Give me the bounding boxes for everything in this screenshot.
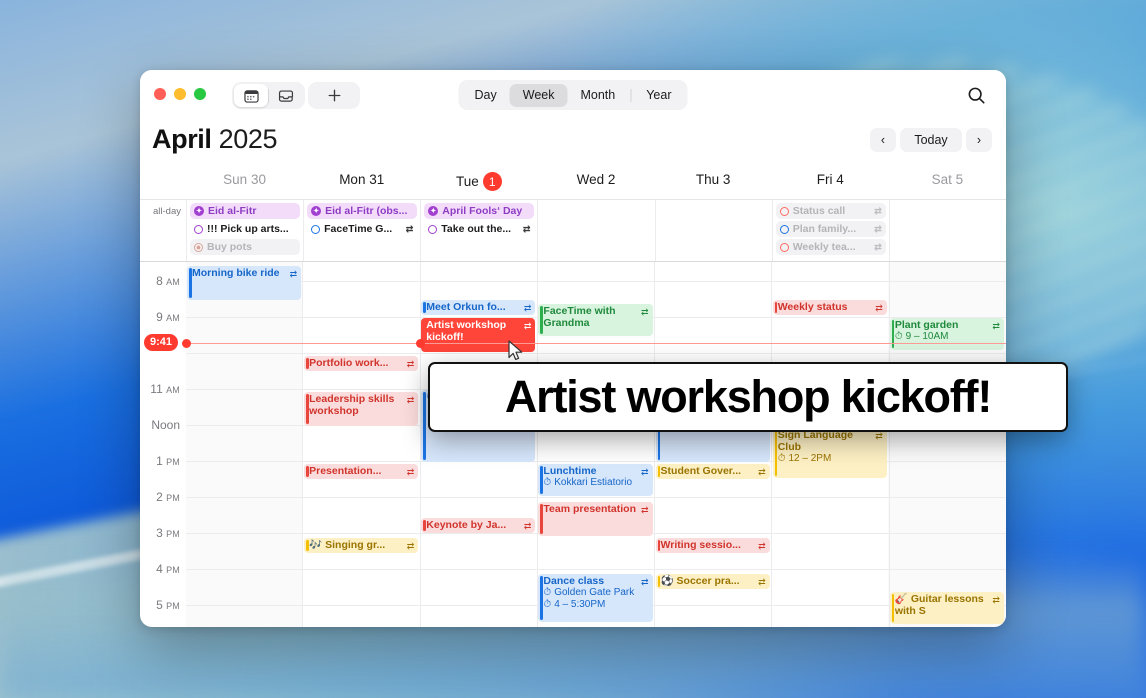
event-color-bar xyxy=(306,540,309,551)
calendar-event[interactable]: ⇄🎶 Singing gr... xyxy=(304,538,418,553)
all-day-event[interactable]: !!! Pick up arts... xyxy=(190,221,300,237)
hour-label: 2 PM xyxy=(140,490,180,504)
clock-icon: ⏱ xyxy=(543,599,551,611)
event-title: FaceTime with Grandma xyxy=(543,305,648,329)
all-day-column-5[interactable]: Status call⇄Plan family...⇄Weekly tea...… xyxy=(772,200,889,261)
repeat-icon: ⇄ xyxy=(290,268,298,280)
all-day-event-title: April Fools‘ Day xyxy=(442,205,530,217)
all-day-column-2[interactable]: ✦April Fools‘ DayTake out the...⇄ xyxy=(420,200,537,261)
all-day-column-6[interactable] xyxy=(889,200,1006,261)
window-titlebar: Day Week Month Year xyxy=(140,70,1006,122)
day-header-label: Wed 2 xyxy=(577,172,616,187)
all-day-event-title: Buy pots xyxy=(207,241,296,253)
source-toggle-group xyxy=(232,82,305,109)
all-day-event[interactable]: ✦Eid al-Fitr xyxy=(190,203,300,219)
event-color-bar xyxy=(658,576,661,587)
reminder-completed-icon[interactable] xyxy=(194,243,203,252)
month-bar: April 2025 ‹ Today › xyxy=(140,122,1006,172)
hour-number: 11 xyxy=(150,382,162,396)
all-day-event-title: Take out the... xyxy=(441,223,519,235)
repeat-icon: ⇄ xyxy=(992,594,1000,606)
repeat-icon: ⇄ xyxy=(641,466,649,478)
page-title: April 2025 xyxy=(152,124,277,155)
event-color-bar xyxy=(658,540,661,551)
calendar-event[interactable]: ⇄⚽ Soccer pra... xyxy=(656,574,770,589)
birthday-star-icon: ✦ xyxy=(311,206,321,216)
location-icon: ⏱ xyxy=(543,477,551,489)
prev-week-button[interactable]: ‹ xyxy=(870,128,896,152)
all-day-event[interactable]: Plan family...⇄ xyxy=(776,221,886,237)
hour-meridiem: PM xyxy=(166,493,180,503)
day-header-label: Sat 5 xyxy=(932,172,964,187)
all-day-column-4[interactable] xyxy=(655,200,772,261)
hour-label: 11 AM xyxy=(140,382,180,396)
day-header-label: Thu 3 xyxy=(696,172,731,187)
reminder-circle-icon[interactable] xyxy=(194,225,203,234)
all-day-event-title: Weekly tea... xyxy=(793,241,871,253)
time-grid: 8 AM9 AM11 AMNoon1 PM2 PM3 PM4 PM5 PM ⇄M… xyxy=(140,262,1006,627)
event-title: Writing sessio... xyxy=(661,539,766,551)
event-title: 🎶 Singing gr... xyxy=(309,539,414,551)
calendar-event[interactable]: ⇄🎸 Guitar lessons with S xyxy=(890,592,1004,624)
event-color-bar xyxy=(306,358,309,369)
repeat-icon: ⇄ xyxy=(874,242,882,253)
current-time-line xyxy=(186,343,1006,344)
repeat-icon: ⇄ xyxy=(407,358,415,370)
hour-number: 8 xyxy=(156,274,163,288)
event-subtitle: ⏱Kokkari Estiatorio xyxy=(543,477,648,489)
event-title: Sign Language Club xyxy=(778,429,883,453)
hour-meridiem: AM xyxy=(166,277,180,287)
month-name: April xyxy=(152,124,212,154)
event-layer: ⇄Morning bike ride⇄Portfolio work...⇄Lea… xyxy=(186,262,1006,627)
event-title: Meet Orkun fo... xyxy=(426,301,531,313)
all-day-event-title: Eid al-Fitr xyxy=(208,205,296,217)
search-icon[interactable] xyxy=(963,82,990,109)
location-icon: ⏱ xyxy=(543,587,551,599)
event-emoji-icon: 🎸 xyxy=(895,593,908,605)
repeat-icon: ⇄ xyxy=(523,224,531,235)
event-title: Leadership skills workshop xyxy=(309,393,414,417)
event-title: Team presentation xyxy=(543,503,648,515)
event-color-bar xyxy=(423,302,426,313)
event-title: Plant garden xyxy=(895,319,1000,331)
current-time-dot-today xyxy=(416,339,425,348)
event-color-bar xyxy=(423,520,426,531)
repeat-icon: ⇄ xyxy=(758,576,766,588)
hour-number: 1 xyxy=(156,454,163,468)
repeat-icon: ⇄ xyxy=(758,466,766,478)
view-divider xyxy=(630,89,631,102)
all-day-column-0[interactable]: ✦Eid al-Fitr!!! Pick up arts...Buy pots xyxy=(186,200,303,261)
day-header-label: Sun 30 xyxy=(223,172,266,187)
hour-meridiem: PM xyxy=(166,601,180,611)
all-day-event[interactable]: Weekly tea...⇄ xyxy=(776,239,886,255)
reminder-circle-icon[interactable] xyxy=(428,225,437,234)
day-header-label: Fri 4 xyxy=(817,172,844,187)
event-title: Keynote by Ja... xyxy=(426,519,531,531)
hour-label: 3 PM xyxy=(140,526,180,540)
calendar-event[interactable]: ⇄Presentation... xyxy=(304,464,418,479)
all-day-event[interactable]: ✦Eid al-Fitr (obs... xyxy=(307,203,417,219)
calendar-event[interactable]: ⇄Lunchtime⏱Kokkari Estiatorio xyxy=(538,464,652,496)
close-button[interactable] xyxy=(154,88,166,100)
all-day-event[interactable]: Buy pots xyxy=(190,239,300,255)
day-header-sun[interactable]: Sun 30 xyxy=(186,172,303,199)
date-nav-group: ‹ Today › xyxy=(870,128,992,152)
event-color-bar xyxy=(540,504,543,534)
repeat-icon: ⇄ xyxy=(524,302,532,314)
event-color-bar xyxy=(306,394,309,424)
event-color-bar xyxy=(658,466,661,477)
event-color-bar xyxy=(540,466,543,494)
day-header-thu[interactable]: Thu 3 xyxy=(655,172,772,199)
calendar-event[interactable]: ⇄Student Gover... xyxy=(656,464,770,479)
birthday-star-icon: ✦ xyxy=(428,206,438,216)
event-title: Lunchtime xyxy=(543,465,648,477)
reminder-circle-icon[interactable] xyxy=(780,225,789,234)
repeat-icon: ⇄ xyxy=(407,466,415,478)
event-color-bar xyxy=(775,430,778,476)
day-header-row: Sun 30Mon 31Tue 1Wed 2Thu 3Fri 4Sat 5 xyxy=(140,172,1006,200)
day-header-wed[interactable]: Wed 2 xyxy=(537,172,654,199)
event-color-bar xyxy=(423,392,426,460)
zoom-button[interactable] xyxy=(194,88,206,100)
calendar-event[interactable]: ⇄Weekly status xyxy=(773,300,887,315)
event-color-bar xyxy=(892,320,895,348)
event-time: ⏱4 – 5:30PM xyxy=(543,599,648,611)
today-button[interactable]: Today xyxy=(900,128,962,152)
day-header-fri[interactable]: Fri 4 xyxy=(772,172,889,199)
clock-icon: ⏱ xyxy=(778,453,786,465)
view-year[interactable]: Year xyxy=(633,84,684,107)
hour-label: 5 PM xyxy=(140,598,180,612)
all-day-event-title: Status call xyxy=(793,205,871,217)
reminder-circle-icon[interactable] xyxy=(780,207,789,216)
view-month[interactable]: Month xyxy=(567,84,628,107)
magnified-event-tooltip: Artist workshop kickoff! xyxy=(428,362,1068,432)
calendar-event[interactable]: ⇄Dance class⏱Golden Gate Park⏱4 – 5:30PM xyxy=(538,574,652,622)
day-header-label: Mon 31 xyxy=(339,172,384,187)
event-title: Portfolio work... xyxy=(309,357,414,369)
calendar-event[interactable]: ⇄Sign Language Club⏱12 – 2PM xyxy=(773,428,887,478)
hour-label: Noon xyxy=(140,418,180,432)
all-day-event[interactable]: ✦April Fools‘ Day xyxy=(424,203,534,219)
event-title: 🎸 Guitar lessons with S xyxy=(895,593,1000,617)
hour-label: 1 PM xyxy=(140,454,180,468)
calendar-event[interactable]: ⇄Meet Orkun fo... xyxy=(421,300,535,315)
day-header-tue[interactable]: Tue 1 xyxy=(420,172,537,199)
all-day-label: all-day xyxy=(140,200,186,261)
repeat-icon: ⇄ xyxy=(641,576,649,588)
event-color-bar xyxy=(189,268,192,298)
birthday-star-icon: ✦ xyxy=(194,206,204,216)
calendar-event[interactable]: ⇄Writing sessio... xyxy=(656,538,770,553)
repeat-icon: ⇄ xyxy=(641,504,649,516)
calendar-event[interactable]: ⇄FaceTime with Grandma xyxy=(538,304,652,336)
repeat-icon: ⇄ xyxy=(992,320,1000,332)
hour-number: 4 xyxy=(156,562,163,576)
tooltip-text: Artist workshop kickoff! xyxy=(505,371,991,423)
day-header-label: Tue 1 xyxy=(456,172,502,191)
event-emoji-icon: ⚽ xyxy=(661,575,674,587)
repeat-icon: ⇄ xyxy=(407,394,415,406)
event-title: Presentation... xyxy=(309,465,414,477)
traffic-lights xyxy=(154,88,206,100)
next-week-button[interactable]: › xyxy=(966,128,992,152)
all-day-row: all-day ✦Eid al-Fitr!!! Pick up arts...B… xyxy=(140,200,1006,262)
event-color-bar xyxy=(892,594,895,622)
hour-meridiem: AM xyxy=(166,385,180,395)
event-color-bar xyxy=(306,466,309,477)
all-day-event-title: Plan family... xyxy=(793,223,871,235)
event-title: Dance class xyxy=(543,575,648,587)
hour-label: 4 PM xyxy=(140,562,180,576)
event-color-bar xyxy=(540,306,543,334)
event-color-bar xyxy=(540,576,543,620)
view-switcher: Day Week Month Year xyxy=(459,80,688,110)
view-day[interactable]: Day xyxy=(462,84,510,107)
all-day-event[interactable]: Take out the...⇄ xyxy=(424,221,534,237)
repeat-icon: ⇄ xyxy=(874,224,882,235)
hour-number: 2 xyxy=(156,490,163,504)
event-title: Morning bike ride xyxy=(192,267,297,279)
event-emoji-icon: 🎶 xyxy=(309,539,322,551)
all-day-event[interactable]: Status call⇄ xyxy=(776,203,886,219)
calendar-event[interactable]: ⇄Keynote by Ja... xyxy=(421,518,535,533)
calendar-event[interactable]: ⇄Morning bike ride xyxy=(187,266,301,300)
calendar-event[interactable]: ⇄Team presentation xyxy=(538,502,652,536)
event-title: Student Gover... xyxy=(661,465,766,477)
header-gutter xyxy=(140,172,186,199)
hour-meridiem: PM xyxy=(166,565,180,575)
all-day-event-title: !!! Pick up arts... xyxy=(207,223,296,235)
event-title: Artist workshop kickoff! xyxy=(426,319,531,343)
minimize-button[interactable] xyxy=(174,88,186,100)
calendar-event[interactable]: ⇄Plant garden⏱9 – 10AM xyxy=(890,318,1004,350)
hour-number: Noon xyxy=(151,418,180,432)
all-day-event[interactable]: FaceTime G...⇄ xyxy=(307,221,417,237)
all-day-event-title: FaceTime G... xyxy=(324,223,402,235)
hour-meridiem: PM xyxy=(166,529,180,539)
current-time-dot xyxy=(182,339,191,348)
current-time-label: 9:41 xyxy=(144,334,178,351)
repeat-icon: ⇄ xyxy=(524,320,532,332)
reminder-circle-icon[interactable] xyxy=(311,225,320,234)
view-week[interactable]: Week xyxy=(510,84,568,107)
repeat-icon: ⇄ xyxy=(641,306,649,318)
event-subtitle: ⏱12 – 2PM xyxy=(778,453,883,465)
day-header-mon[interactable]: Mon 31 xyxy=(303,172,420,199)
event-title: Weekly status xyxy=(778,301,883,313)
event-color-bar xyxy=(775,302,778,313)
event-subtitle: ⏱9 – 10AM xyxy=(895,331,1000,343)
all-day-event-title: Eid al-Fitr (obs... xyxy=(325,205,413,217)
hour-meridiem: PM xyxy=(166,457,180,467)
clock-icon: ⏱ xyxy=(895,331,903,343)
calendar-window: Day Week Month Year April 2025 ‹ Today ›… xyxy=(140,70,1006,627)
repeat-icon: ⇄ xyxy=(758,540,766,552)
hour-number: 5 xyxy=(156,598,163,612)
event-title: ⚽ Soccer pra... xyxy=(661,575,766,587)
inbox-icon[interactable] xyxy=(269,84,303,107)
hour-number: 9 xyxy=(156,310,163,324)
add-event-button[interactable] xyxy=(308,82,360,109)
day-header-sat[interactable]: Sat 5 xyxy=(889,172,1006,199)
hour-number: 3 xyxy=(156,526,163,540)
today-date-badge: 1 xyxy=(483,172,502,191)
all-day-column-3[interactable] xyxy=(537,200,654,261)
hour-label: 9 AM xyxy=(140,310,180,324)
calendar-event[interactable]: ⇄Portfolio work... xyxy=(304,356,418,371)
repeat-icon: ⇄ xyxy=(874,206,882,217)
hour-meridiem: AM xyxy=(166,313,180,323)
repeat-icon: ⇄ xyxy=(524,520,532,532)
calendar-event[interactable]: ⇄Leadership skills workshop xyxy=(304,392,418,426)
event-subtitle: ⏱Golden Gate Park xyxy=(543,587,648,599)
repeat-icon: ⇄ xyxy=(875,302,883,314)
all-day-column-1[interactable]: ✦Eid al-Fitr (obs...FaceTime G...⇄ xyxy=(303,200,420,261)
calendar-icon[interactable] xyxy=(234,84,268,107)
repeat-icon: ⇄ xyxy=(407,540,415,552)
repeat-icon: ⇄ xyxy=(406,224,414,235)
hour-label: 8 AM xyxy=(140,274,180,288)
calendar-event[interactable]: ⇄Artist workshop kickoff! xyxy=(421,318,535,352)
year-label: 2025 xyxy=(219,124,277,154)
reminder-circle-icon[interactable] xyxy=(780,243,789,252)
